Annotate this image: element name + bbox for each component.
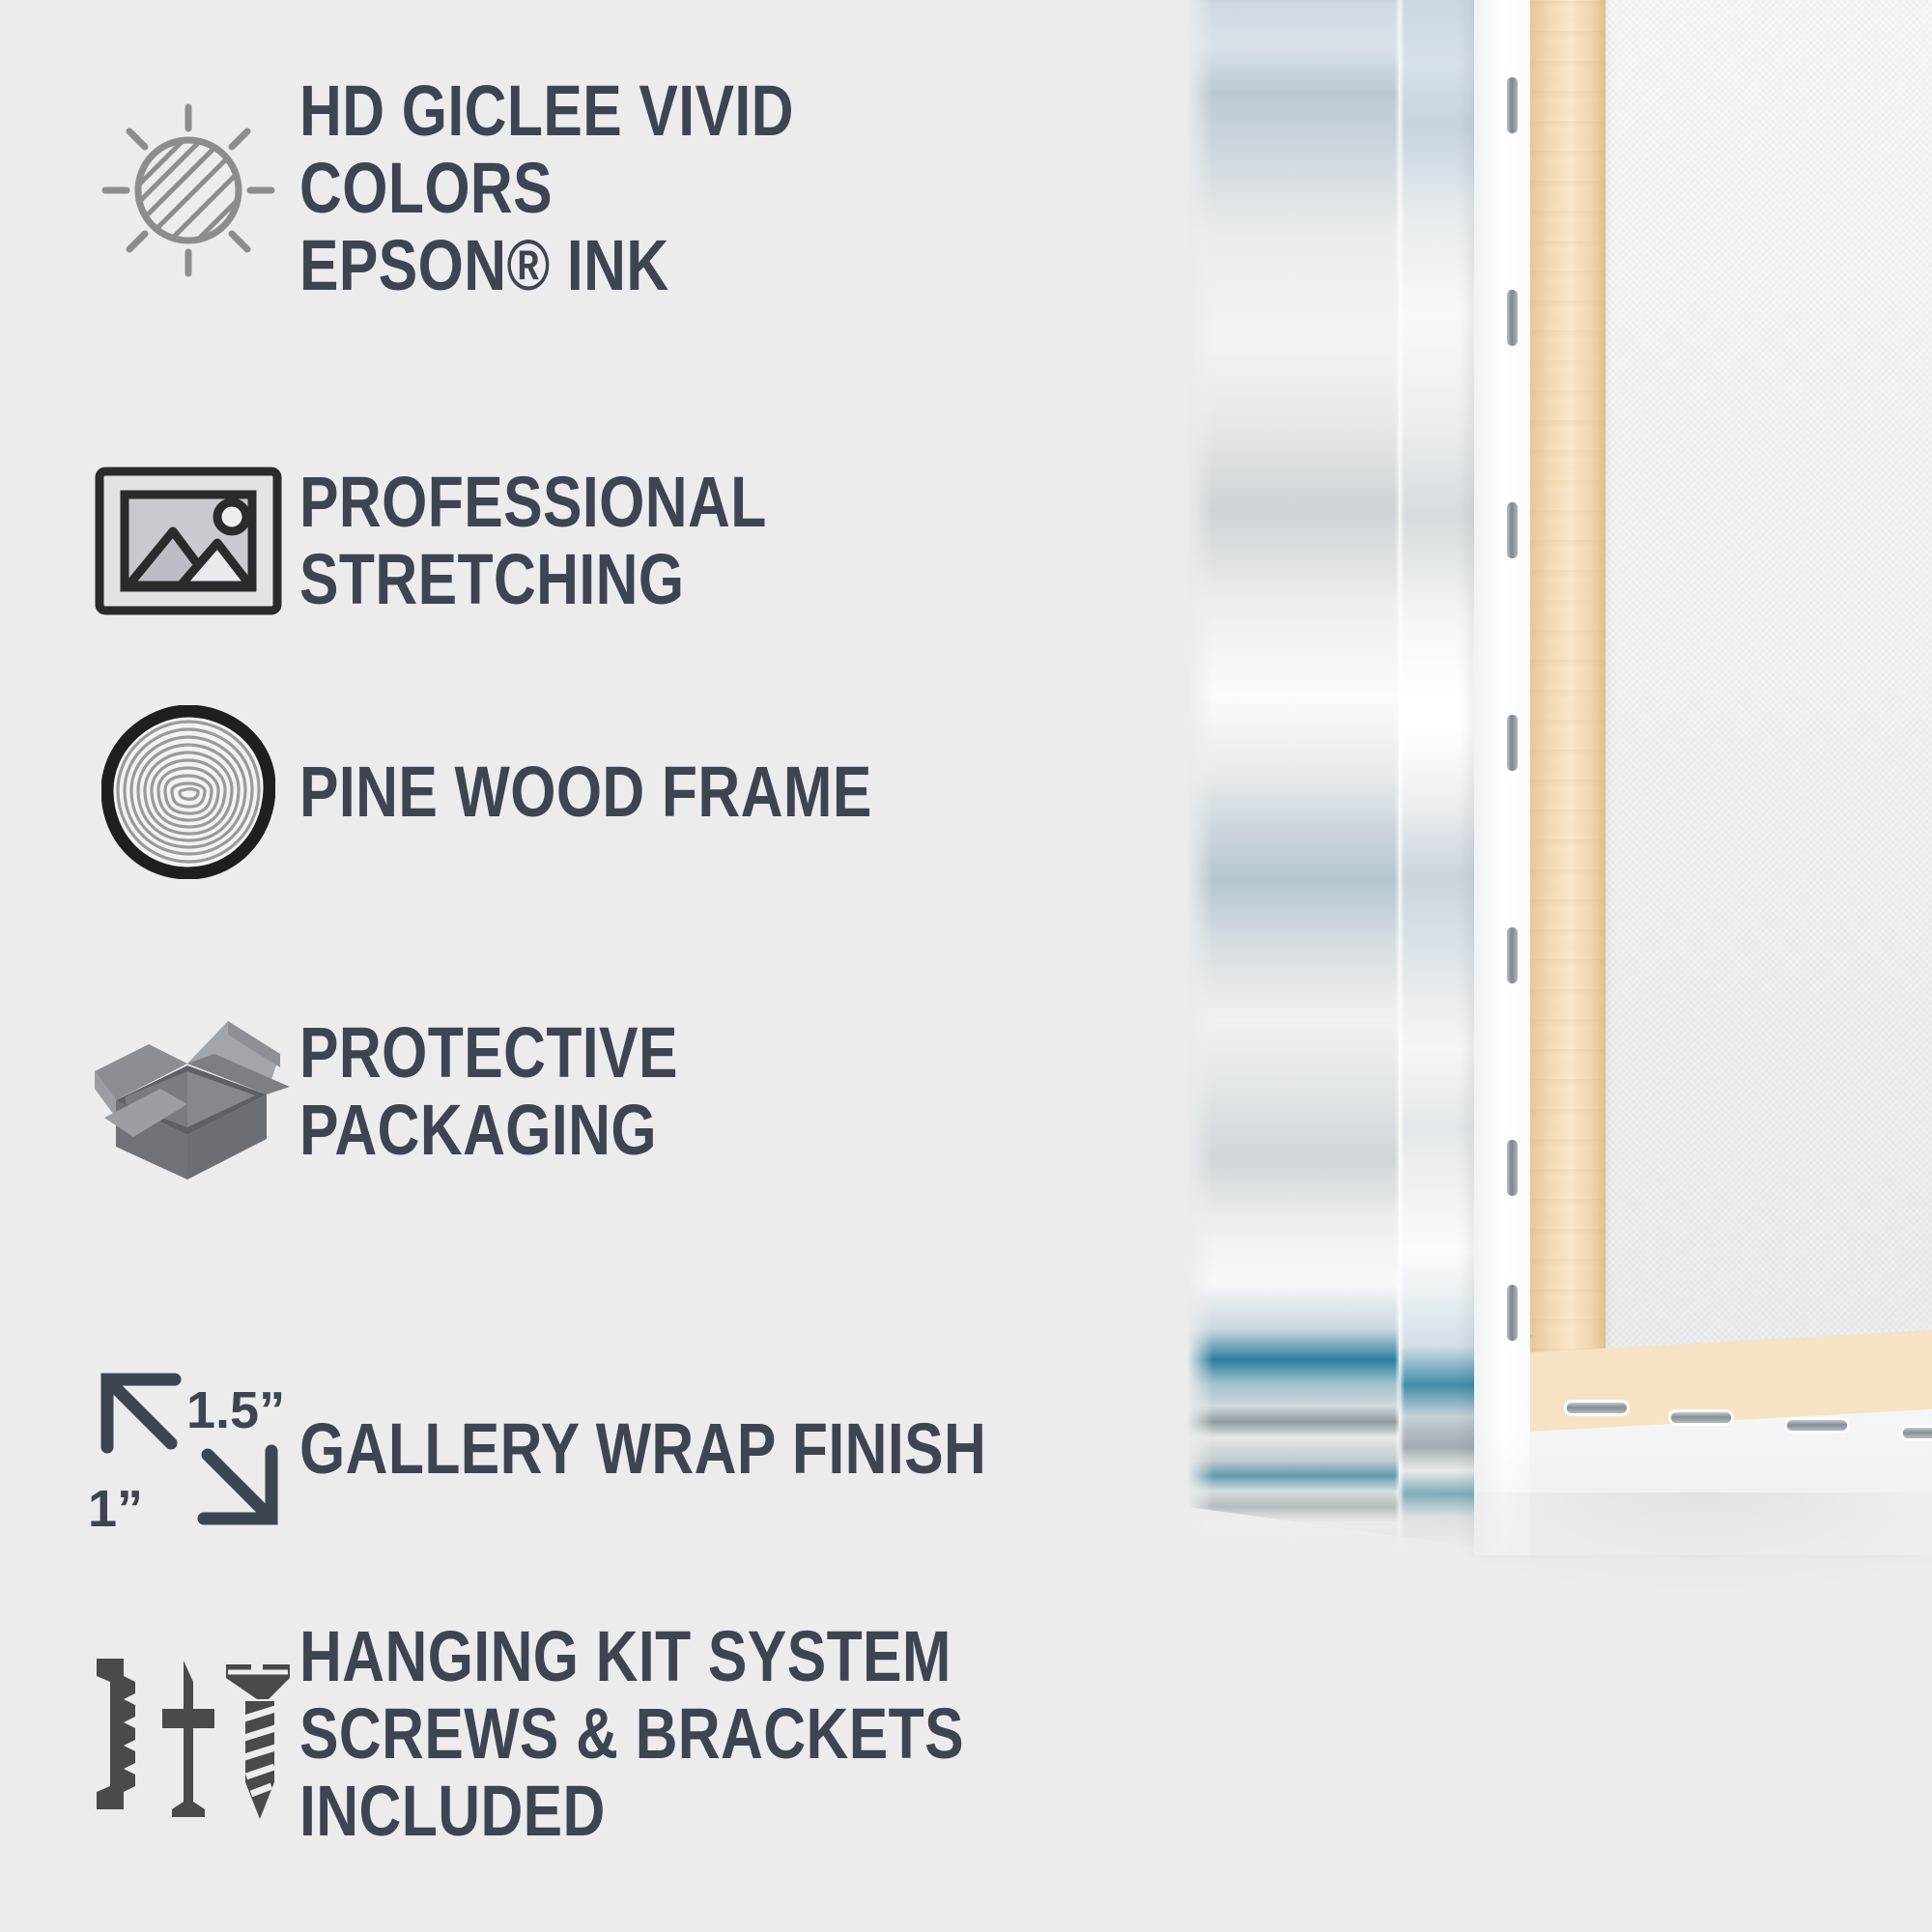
cardboard-box-icon bbox=[77, 1000, 299, 1183]
feature-label: PROTECTIVE PACKAGING bbox=[299, 1014, 1005, 1169]
hanging-hardware-icon bbox=[77, 1637, 299, 1831]
artwork-wrapped-edge bbox=[1399, 0, 1482, 1565]
photo-bottom-fade bbox=[1188, 1430, 1932, 1594]
staple bbox=[1507, 927, 1518, 983]
photo-left-fade bbox=[1188, 0, 1213, 1594]
staple bbox=[1507, 1285, 1518, 1341]
pine-stretcher-bar-vertical bbox=[1530, 0, 1605, 1420]
staple bbox=[1507, 715, 1518, 771]
gallery-wrap-arrows-icon: 1.5” 1” 1.5” 1” bbox=[77, 1362, 299, 1536]
staple bbox=[1507, 290, 1518, 346]
feature-hd-giclee: HD GICLEE VIVID COLORS EPSON® INK bbox=[77, 92, 1159, 285]
canvas-cloth-back bbox=[1605, 0, 1932, 1362]
staple bbox=[1507, 502, 1518, 558]
feature-label: GALLERY WRAP FINISH bbox=[299, 1410, 986, 1488]
wood-rings-icon bbox=[77, 705, 299, 879]
feature-label: PROFESSIONAL STRETCHING bbox=[299, 464, 1005, 618]
feature-professional-stretching: PROFESSIONAL STRETCHING bbox=[77, 449, 1159, 633]
sun-icon bbox=[77, 97, 299, 280]
feature-label: PINE WOOD FRAME bbox=[299, 753, 872, 831]
canvas-side-wall bbox=[1474, 0, 1530, 1555]
feature-pine-wood-frame: PINE WOOD FRAME bbox=[77, 676, 1159, 908]
infographic-root: HD GICLEE VIVID COLORS EPSON® INK PROFES… bbox=[0, 0, 1932, 1932]
depth-top-label: 1.5” bbox=[186, 1381, 285, 1439]
staple bbox=[1507, 77, 1518, 133]
staple bbox=[1567, 1403, 1627, 1413]
feature-hanging-kit: HANGING KIT SYSTEM SCREWS & BRACKETS INC… bbox=[77, 1623, 1236, 1845]
staple bbox=[1671, 1412, 1731, 1423]
feature-label: HANGING KIT SYSTEM SCREWS & BRACKETS INC… bbox=[299, 1618, 1067, 1850]
artwork-printed-face bbox=[1188, 0, 1399, 1546]
edge-highlight bbox=[1395, 0, 1405, 1565]
picture-frame-icon bbox=[77, 464, 299, 618]
depth-bottom-label: 1” bbox=[88, 1480, 143, 1536]
canvas-corner-photo bbox=[1188, 0, 1932, 1594]
feature-label: HD GICLEE VIVID COLORS EPSON® INK bbox=[299, 72, 1005, 304]
feature-gallery-wrap-finish: 1.5” 1” 1.5” 1” GALLERY WRAP FINISH bbox=[77, 1348, 1159, 1550]
feature-protective-packaging: PROTECTIVE PACKAGING bbox=[77, 966, 1159, 1217]
staple bbox=[1507, 1140, 1518, 1196]
